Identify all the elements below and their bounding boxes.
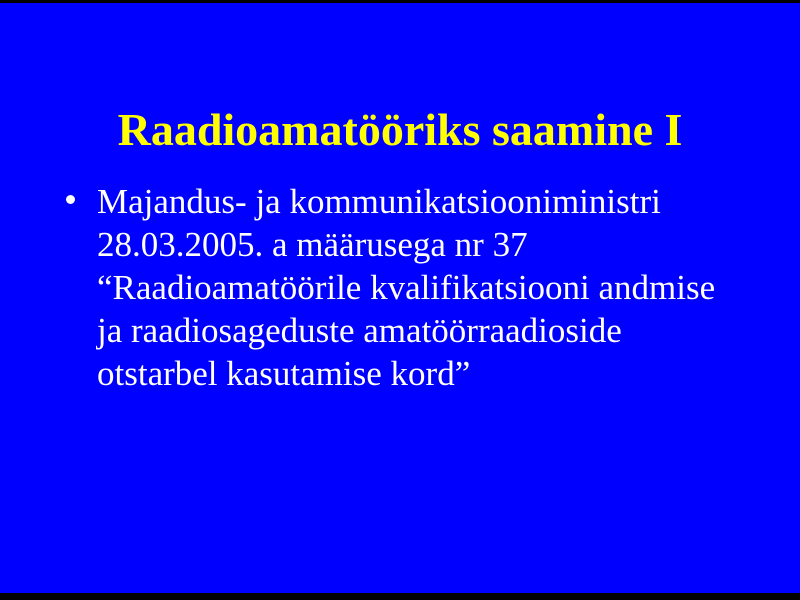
- slide-title: Raadioamatööriks saamine I: [0, 103, 800, 157]
- bullet-text-line-1: Majandus- ja kommunikatsiooniministri: [97, 180, 760, 223]
- slide-top-edge-band: [0, 0, 800, 3]
- bullet-list-item: Majandus- ja kommunikatsiooniministri 28…: [60, 180, 760, 395]
- presentation-slide: Raadioamatööriks saamine I Majandus- ja …: [0, 0, 800, 600]
- bullet-dot-icon: [66, 195, 75, 204]
- bullet-text-block: Majandus- ja kommunikatsiooniministri 28…: [97, 180, 760, 395]
- bullet-text-line-5: otstarbel kasutamise kord”: [97, 352, 760, 395]
- bullet-text-line-4: ja raadiosageduste amatöörraadioside: [97, 309, 760, 352]
- bullet-text-line-2: 28.03.2005. a määrusega nr 37: [97, 223, 760, 266]
- slide-bottom-edge-band: [0, 593, 800, 600]
- slide-body: Majandus- ja kommunikatsiooniministri 28…: [60, 180, 760, 395]
- bullet-text-line-3: “Raadioamatöörile kvalifikatsiooni andmi…: [97, 266, 760, 309]
